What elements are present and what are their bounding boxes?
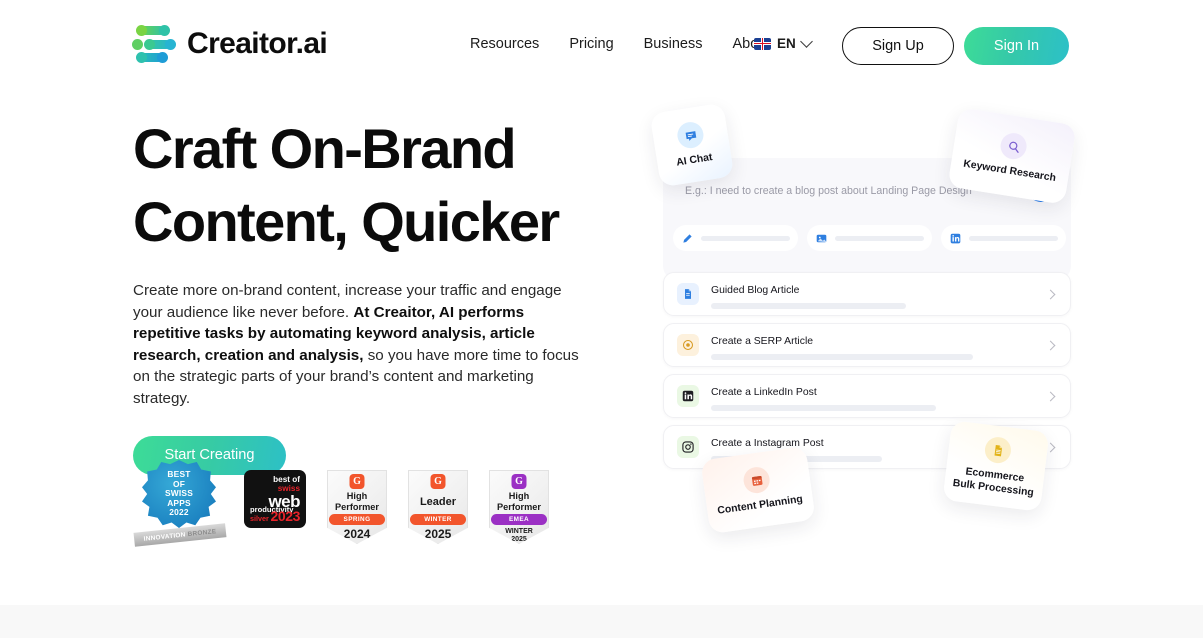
bosw-medal: silver bbox=[250, 514, 269, 523]
linkedin-icon bbox=[677, 385, 699, 407]
calendar-icon bbox=[742, 466, 771, 495]
headline-line-1: Craft On-Brand bbox=[133, 112, 633, 185]
badge-line-5: 2022 bbox=[165, 508, 193, 518]
bosw-best-of: best of bbox=[273, 475, 300, 484]
g2-band-label: WINTER bbox=[424, 516, 452, 523]
list-item-title: Guided Blog Article bbox=[711, 285, 799, 296]
language-label: EN bbox=[777, 36, 796, 51]
sign-up-button[interactable]: Sign Up bbox=[842, 27, 954, 65]
chevron-right-icon[interactable] bbox=[1046, 289, 1056, 299]
keyword-research-label: Keyword Research bbox=[962, 159, 1056, 186]
sign-in-button[interactable]: Sign In bbox=[964, 27, 1069, 65]
target-icon bbox=[677, 334, 699, 356]
badge-best-of-swiss-web: best of swiss web productivity silver 20… bbox=[244, 470, 306, 528]
g2-band: EMEA bbox=[491, 514, 547, 525]
brand-name: Creaitor.ai bbox=[187, 27, 327, 61]
list-item-create-serp-article[interactable]: Create a SERP Article bbox=[663, 323, 1071, 367]
list-item-body: Guided Blog Article bbox=[711, 280, 1047, 309]
brand-logo[interactable]: Creaitor.ai bbox=[131, 22, 327, 66]
g2-logo-icon: G bbox=[431, 474, 446, 489]
g2-band-label: SPRING bbox=[344, 516, 371, 523]
nav-item-business[interactable]: Business bbox=[644, 36, 703, 52]
list-item-title: Create a SERP Article bbox=[711, 336, 813, 347]
list-item-title: Create a Instagram Post bbox=[711, 438, 824, 449]
g2-title: High Performer bbox=[328, 491, 386, 513]
ai-chat-label: AI Chat bbox=[676, 152, 714, 170]
list-item-guided-blog-article[interactable]: Guided Blog Article bbox=[663, 272, 1071, 316]
ai-chat-card[interactable]: AI Chat bbox=[650, 103, 735, 188]
content-planning-card[interactable]: Content Planning bbox=[700, 446, 815, 534]
headline-line-2: Content, Quicker bbox=[133, 185, 633, 258]
bosw-top-line: best of bbox=[250, 475, 300, 484]
g2-band: SPRING bbox=[329, 514, 385, 525]
quick-pill-image[interactable] bbox=[807, 225, 932, 251]
chat-bubble-icon bbox=[676, 121, 706, 151]
list-item-skeleton bbox=[711, 405, 936, 411]
instagram-icon bbox=[677, 436, 699, 458]
badge-g2-leader-winter-2025: G Leader WINTER 2025 bbox=[408, 470, 468, 544]
list-item-skeleton bbox=[711, 354, 973, 360]
page-title: Craft On-Brand Content, Quicker bbox=[133, 112, 633, 258]
pill-skeleton-bar bbox=[969, 236, 1058, 241]
g2-logo-icon: G bbox=[350, 474, 365, 489]
pill-skeleton-bar bbox=[835, 236, 924, 241]
pill-skeleton-bar bbox=[701, 236, 790, 241]
g2-year: 2024 bbox=[328, 527, 386, 541]
g2-band: WINTER bbox=[410, 514, 466, 525]
ribbon-sub: BRONZE bbox=[187, 528, 216, 538]
ecommerce-bulk-processing-label: Ecommerce Bulk Processing bbox=[952, 465, 1036, 500]
badge-text: BEST OF SWISS APPS 2022 bbox=[165, 470, 193, 518]
site-header: Creaitor.ai Resources Pricing Business A… bbox=[0, 0, 1203, 92]
chevron-right-icon[interactable] bbox=[1046, 340, 1056, 350]
hero-section: Craft On-Brand Content, Quicker Create m… bbox=[133, 112, 633, 475]
ribbon-main: INNOVATION bbox=[143, 531, 188, 543]
nav-item-resources[interactable]: Resources bbox=[470, 36, 539, 52]
g2-title: High Performer bbox=[490, 491, 548, 513]
badge-g2-high-performer-spring-2024: G High Performer SPRING 2024 bbox=[327, 470, 387, 544]
language-selector[interactable]: EN bbox=[754, 36, 811, 51]
list-item-create-linkedin-post[interactable]: Create a LinkedIn Post bbox=[663, 374, 1071, 418]
ecommerce-bulk-processing-card[interactable]: Ecommerce Bulk Processing bbox=[942, 420, 1049, 511]
quick-action-pills bbox=[673, 225, 1066, 251]
badge-best-of-swiss-apps: BEST OF SWISS APPS 2022 INNOVATION BRONZ… bbox=[134, 460, 226, 544]
quick-pill-pen[interactable] bbox=[673, 225, 798, 251]
uk-flag-icon bbox=[754, 38, 771, 50]
nav-item-pricing[interactable]: Pricing bbox=[569, 36, 613, 52]
quick-pill-linkedin[interactable] bbox=[941, 225, 1066, 251]
g2-year: 2025 bbox=[409, 527, 467, 541]
document-icon bbox=[677, 283, 699, 305]
content-planning-label: Content Planning bbox=[717, 494, 804, 518]
chevron-right-icon[interactable] bbox=[1046, 391, 1056, 401]
g2-title: Leader bbox=[409, 497, 467, 508]
spreadsheet-icon bbox=[983, 436, 1012, 465]
next-section-band bbox=[0, 605, 1203, 638]
landing-page: Creaitor.ai Resources Pricing Business A… bbox=[0, 0, 1203, 638]
starburst-shape: BEST OF SWISS APPS 2022 bbox=[142, 460, 216, 528]
main-nav: Resources Pricing Business About bbox=[470, 36, 770, 52]
badge-g2-high-performer-emea-winter-2025: G High Performer EMEA WINTER 2025 bbox=[489, 470, 549, 544]
g2-logo-icon: G bbox=[512, 474, 527, 489]
g2-band-label: EMEA bbox=[509, 516, 529, 523]
award-badges: BEST OF SWISS APPS 2022 INNOVATION BRONZ… bbox=[134, 460, 549, 544]
bosw-year: 2023 bbox=[270, 508, 300, 524]
chevron-down-icon bbox=[800, 35, 813, 48]
list-item-body: Create a LinkedIn Post bbox=[711, 382, 1047, 411]
list-item-title: Create a LinkedIn Post bbox=[711, 387, 817, 398]
pen-icon bbox=[681, 232, 694, 245]
list-item-body: Create a SERP Article bbox=[711, 331, 1047, 360]
list-item-skeleton bbox=[711, 303, 906, 309]
hero-paragraph: Create more on-brand content, increase y… bbox=[133, 280, 595, 410]
creaitor-nodes-logo-icon bbox=[131, 22, 175, 66]
linkedin-icon bbox=[949, 232, 962, 245]
magnifier-icon bbox=[999, 132, 1029, 162]
g2-sub: WINTER 2025 bbox=[490, 528, 548, 545]
image-icon bbox=[815, 232, 828, 245]
prompt-placeholder-text[interactable]: E.g.: I need to create a blog post about… bbox=[685, 185, 972, 197]
